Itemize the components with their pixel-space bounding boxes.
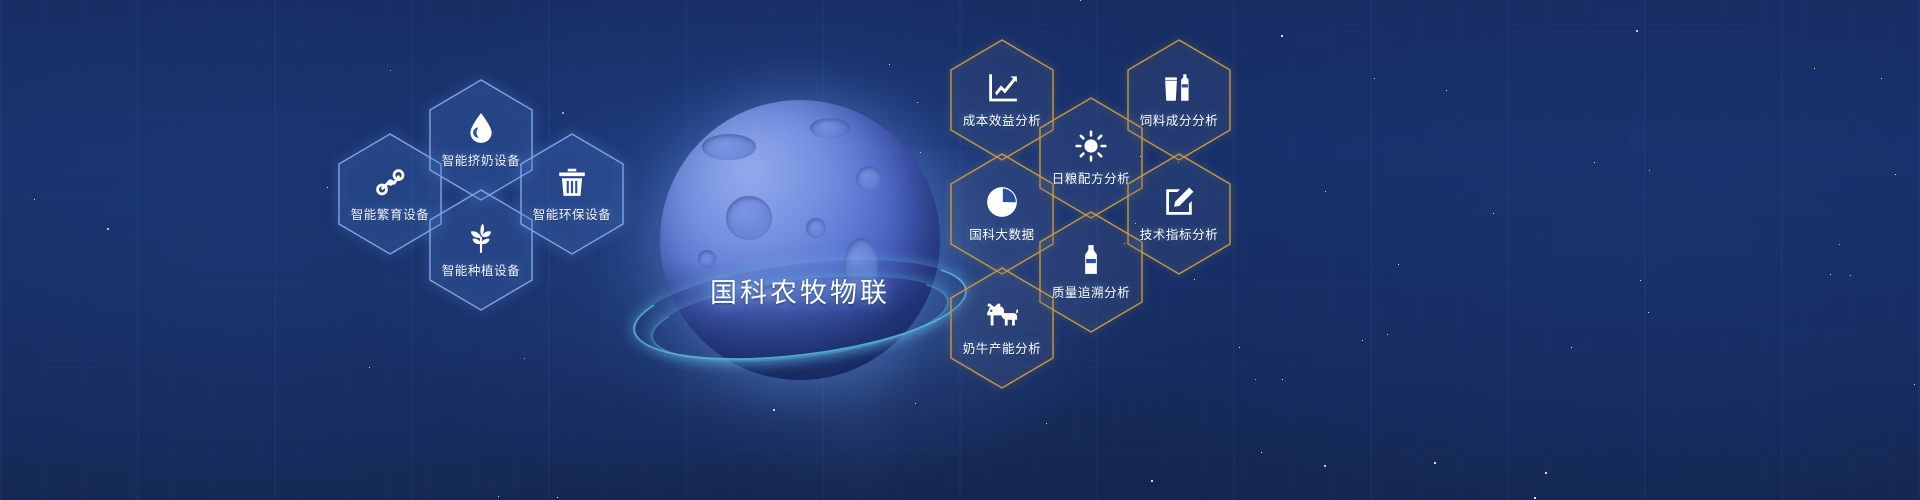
hex-smart-environment[interactable]: 智能环保设备 — [518, 132, 626, 256]
hex-label: 饲料成分分析 — [1140, 110, 1219, 129]
banner-background: 国科农牧物联 智能繁育设备 智能挤奶设备 — [0, 0, 1920, 500]
water-drop-icon — [464, 111, 498, 145]
hex-label: 智能繁育设备 — [351, 204, 430, 223]
hex-label: 智能挤奶设备 — [442, 150, 521, 169]
hex-dairy-cow-capacity-analysis[interactable]: 奶牛产能分析 — [948, 266, 1056, 390]
line-chart-icon — [985, 71, 1019, 105]
center-globe: 国科农牧物联 — [640, 88, 960, 398]
plant-sprout-icon — [464, 221, 498, 255]
hex-label: 国科大数据 — [969, 224, 1035, 243]
hex-label: 技术指标分析 — [1140, 224, 1219, 243]
edit-pen-icon — [1162, 185, 1196, 219]
trash-bin-icon — [555, 165, 589, 199]
page-title: 国科农牧物联 — [640, 271, 960, 310]
feed-bottle-icon — [1162, 71, 1196, 105]
hex-label: 智能环保设备 — [533, 204, 612, 223]
hex-label: 奶牛产能分析 — [963, 338, 1042, 357]
sun-formula-icon — [1074, 129, 1108, 163]
hex-label: 日粮配方分析 — [1052, 168, 1131, 187]
hex-label: 质量追溯分析 — [1052, 282, 1131, 301]
hex-label: 智能种植设备 — [442, 260, 521, 279]
cow-icon — [985, 299, 1019, 333]
pie-chart-icon — [985, 185, 1019, 219]
milk-bottle-icon — [1074, 243, 1108, 277]
hex-label: 成本效益分析 — [963, 110, 1042, 129]
node-graph-icon — [373, 165, 407, 199]
